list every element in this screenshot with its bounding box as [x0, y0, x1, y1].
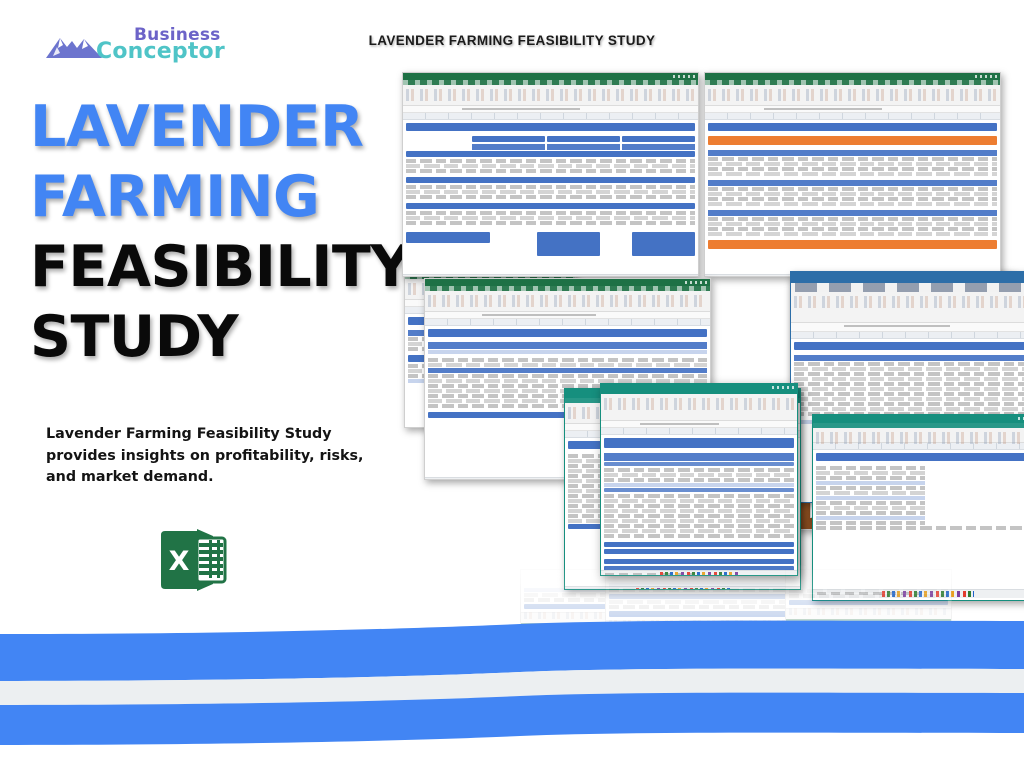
header-title: LAVENDER FARMING FEASIBILITY STUDY — [0, 33, 1024, 48]
window-compte-resultat[interactable] — [600, 383, 798, 576]
window-budget-previsionnel[interactable] — [704, 72, 1001, 277]
hero-line-3: FEASIBILITY — [30, 232, 390, 302]
excel-icon: X — [157, 527, 229, 593]
excel-icon-letter: X — [169, 546, 190, 577]
hero-line-1: LAVENDER — [30, 92, 390, 162]
decorative-wave-bands — [0, 600, 1024, 768]
description-text: Lavender Farming Feasibility Study provi… — [46, 424, 376, 489]
window-chiffre-affaires[interactable] — [402, 72, 699, 277]
hero-line-2: FARMING — [30, 162, 390, 232]
page-title: LAVENDER FARMING FEASIBILITY STUDY — [30, 92, 390, 372]
hero-line-4: STUDY — [30, 302, 390, 372]
excel-spreadsheet-screenshots — [392, 66, 1012, 606]
